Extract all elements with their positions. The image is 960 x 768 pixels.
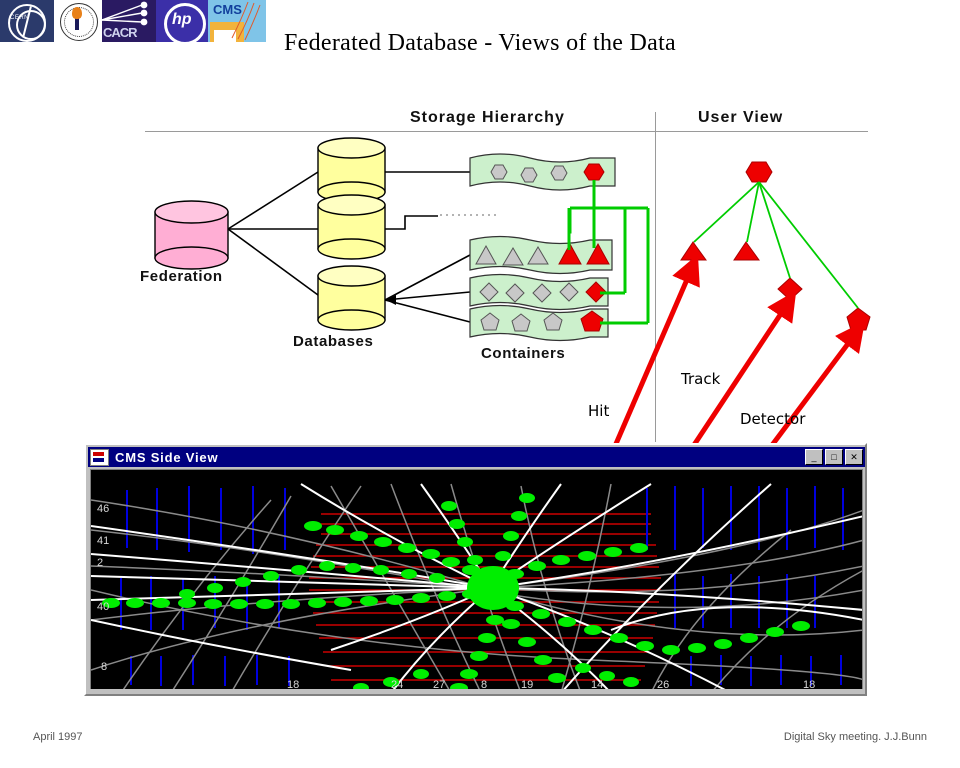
axis-left-4: 8 [101,661,107,673]
pentagon-container [470,306,608,341]
maximize-button[interactable]: □ [825,449,843,465]
event-hexagon [746,162,772,182]
triangle-container [470,237,612,274]
track-triangle-1 [681,242,706,260]
federation-to-database-links [228,172,318,295]
track-label: Track [681,370,720,388]
hit-diamond [778,278,802,300]
axis-left-1: 41 [97,535,109,547]
footer-attribution: Digital Sky meeting. J.J.Bunn [784,731,927,743]
database-cylinder-2 [318,195,385,259]
diamond-container [470,275,608,310]
containers-label: Containers [481,345,565,362]
cern-logo-text: CERN [10,15,29,21]
axis-left-3: 40 [97,601,109,613]
close-button[interactable]: ✕ [845,449,863,465]
database-cylinder-3 [318,266,385,330]
database-inflow-arrow [386,295,396,305]
caltech-flame-icon [72,7,82,19]
cms-window-buttons: _ □ ✕ [805,449,865,465]
detector-label: Detector [740,410,805,428]
column-divider-vertical [655,112,656,442]
slide-root: CERN CACR hp [0,0,960,768]
cms-system-menu-icon[interactable] [90,449,109,466]
triangle-objects [476,244,609,265]
track-triangle-2 [734,242,759,260]
page-title: Federated Database - Views of the Data [0,30,960,57]
pentagon-objects [481,311,603,331]
hexagon-container [470,154,615,190]
axis-left-0: 46 [97,503,109,515]
cms-event-display-svg: 46 41 2 40 8 18 24 27 8 19 14 26 18 [91,470,863,692]
user-view-objects [681,162,870,330]
detector-pentagon [847,308,870,330]
cms-event-display-canvas[interactable]: 46 41 2 40 8 18 24 27 8 19 14 26 18 [90,469,863,692]
database-cylinder-1 [318,138,385,202]
storage-hierarchy-header: Storage Hierarchy [410,109,565,127]
hit-label: Hit [588,402,609,420]
user-view-tree-links [694,182,858,308]
cms-window-statusbar [90,689,863,692]
user-view-header: User View [698,109,783,127]
databases-label: Databases [293,333,373,350]
database-to-container-links [385,172,470,322]
minimize-button[interactable]: _ [805,449,823,465]
footer-date: April 1997 [33,731,83,743]
federation-label: Federation [140,268,223,285]
axis-left-2: 2 [97,557,103,569]
hexagon-objects [491,164,604,182]
object-association-wiring [568,180,648,323]
federation-cylinder [155,201,228,269]
cms-window-titlebar[interactable]: CMS Side View _ □ ✕ [88,447,865,467]
cms-side-view-window[interactable]: CMS Side View _ □ ✕ [84,443,867,696]
header-divider-horizontal [145,131,868,132]
hp-logo-text: hp [172,11,192,29]
cms-logo-text: CMS [213,2,242,17]
cms-window-title: CMS Side View [115,450,218,465]
diamond-objects [480,282,606,302]
